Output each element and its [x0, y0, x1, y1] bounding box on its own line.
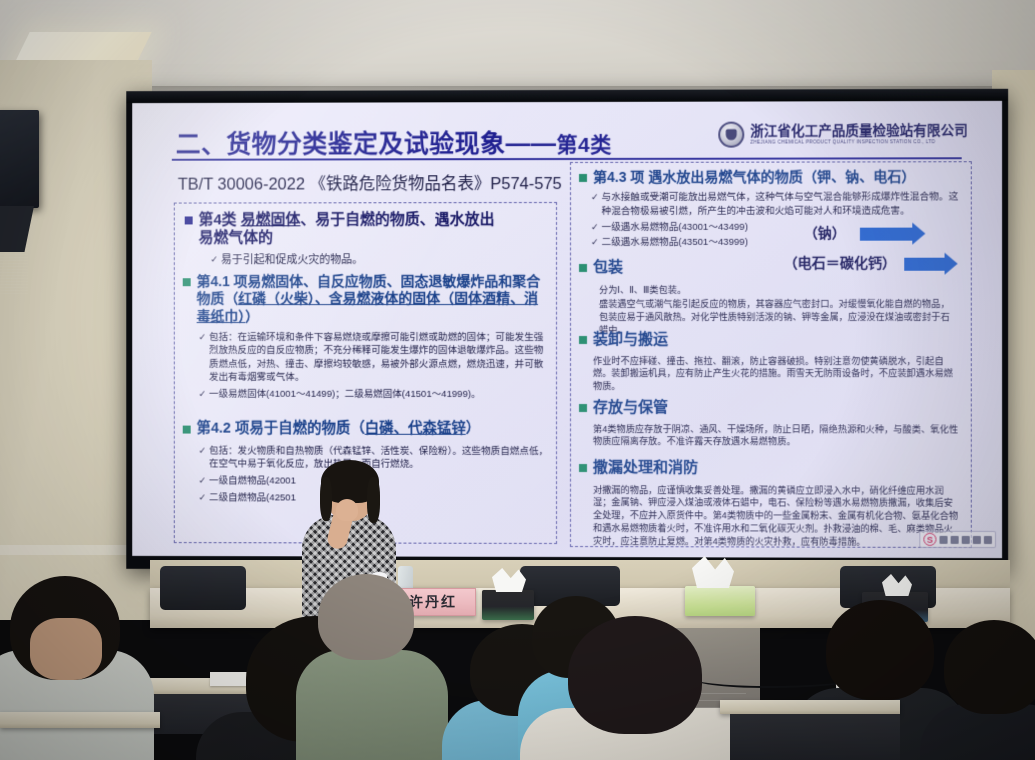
toolbar-icon[interactable] [951, 535, 959, 543]
audience-head [944, 620, 1035, 714]
packaging-heading-row: 包装 [579, 259, 965, 278]
square-bullet-icon [183, 278, 191, 286]
square-bullet-icon [579, 336, 587, 344]
packaging-heading: 包装 [593, 259, 623, 278]
desk [0, 712, 160, 728]
company-logo: 浙江省化工产品质量检验站有限公司 ZHEJIANG CHEMICAL PRODU… [718, 121, 968, 148]
spill-text: 对撒漏的物品，应谨慎收集妥善处理。撒漏的黄磷应立即浸入水中，硝化纤维应用水润湿；… [593, 484, 959, 549]
tissue-box [685, 586, 755, 616]
class4-heading: 第4类 易燃固体、易于自燃的物质、遇水放出 易燃气体的 [199, 211, 495, 248]
desk [720, 700, 900, 714]
item43-detail: 与水接触或受潮可能放出易燃气体，这种气体与空气混合能够形成爆炸性混合物。这种混合… [591, 191, 961, 218]
toolbar-icon[interactable] [973, 535, 981, 543]
square-bullet-icon [579, 264, 587, 272]
chair-back [160, 566, 246, 610]
handling-heading-row: 装卸与搬运 [579, 331, 965, 350]
projection-screen: 二、货物分类鉴定及试验现象——第4类 浙江省化工产品质量检验站有限公司 ZHEJ… [126, 89, 1008, 571]
presenter-hair-side [320, 477, 332, 521]
audience-head [318, 574, 414, 660]
arrow-right-icon [860, 228, 912, 241]
item42-heading-tail: ） [466, 421, 480, 437]
spill-heading: 撒漏处理和消防 [593, 459, 698, 478]
square-bullet-icon [185, 216, 193, 224]
conference-room-photo: 二、货物分类鉴定及试验现象——第4类 浙江省化工产品质量检验站有限公司 ZHEJ… [0, 0, 1035, 760]
item41-heading-row: 第4.1 项易燃固体、自反应物质、固态退敏爆炸品和聚合物质（红磷（火柴）、含易燃… [183, 273, 549, 325]
item43-heading: 第4.3 项 遇水放出易燃气体的物质（钾、钠、电石） [593, 168, 916, 186]
spill-heading-row: 撒漏处理和消防 [579, 459, 965, 478]
audience-head [826, 600, 934, 700]
square-bullet-icon [579, 464, 587, 472]
audience-head [568, 616, 702, 734]
callout-sodium: （钠） [804, 223, 846, 243]
class4-heading-d: 易燃气体的 [199, 230, 273, 247]
wall-speaker [0, 110, 39, 208]
item42-heading: 第4.2 项易于自燃的物质（白磷、代森锰锌） [197, 421, 481, 439]
storage-heading: 存放与保管 [593, 399, 668, 418]
item41-codes: 一级易燃固体(41001～41499)；二级易燃固体(41501～41999)。 [199, 388, 549, 401]
tissue-box [482, 590, 534, 620]
item43-heading-emphasis: 钾、钠、电石 [817, 168, 902, 184]
presenter-hair-side [367, 477, 380, 523]
item42-heading-text: 第4.2 项易于自燃的物质（ [197, 421, 365, 437]
presentation-slide: 二、货物分类鉴定及试验现象——第4类 浙江省化工产品质量检验站有限公司 ZHEJ… [132, 101, 1002, 558]
presenter-hand [336, 499, 358, 521]
item41-heading-tail: ） [245, 308, 259, 324]
title-underline [172, 157, 962, 161]
item42-heading-emphasis: 白磷、代森锰锌 [365, 421, 466, 437]
handling-heading: 装卸与搬运 [593, 331, 668, 350]
storage-text: 第4类物质应存放于阴凉、通风、干燥场所，防止日晒，隔绝热源和火种，与酸类、氧化性… [593, 423, 959, 449]
company-name-en: ZHEJIANG CHEMICAL PRODUCT QUALITY INSPEC… [750, 139, 967, 144]
audience-body [296, 650, 448, 760]
desk-panel [730, 714, 900, 760]
screen-recorder-toolbar[interactable]: S [919, 531, 996, 548]
item43-heading-row: 第4.3 项 遇水放出易燃气体的物质（钾、钠、电石） [579, 168, 965, 186]
slide-title-main: 二、货物分类鉴定及试验现象—— [176, 130, 557, 159]
toolbar-icon[interactable] [962, 535, 970, 543]
audience-face [30, 618, 102, 680]
item43-heading-text: 第4.3 项 遇水放出易燃气体的物质（ [593, 169, 817, 185]
right-content-panel: 第4.3 项 遇水放出易燃气体的物质（钾、钠、电石） 与水接触或受潮可能放出易燃… [570, 161, 972, 548]
packaging-line1: 分为Ⅰ、Ⅱ、Ⅲ类包装。 [599, 283, 965, 296]
company-emblem-icon [718, 122, 744, 148]
toolbar-icon[interactable] [940, 535, 948, 543]
item43-heading-tail: ） [901, 168, 915, 184]
ceiling [0, 0, 1035, 96]
company-name-cn: 浙江省化工产品质量检验站有限公司 [750, 124, 967, 139]
class4-heading-b: 易燃固体 [241, 211, 301, 228]
square-bullet-icon [579, 174, 587, 182]
standard-reference: TB/T 30006-2022 《铁路危险货物品名表》P574-575 [178, 170, 562, 195]
storage-heading-row: 存放与保管 [579, 399, 965, 418]
item42-heading-row: 第4.2 项易于自燃的物质（白磷、代森锰锌） [183, 421, 549, 439]
class4-heading-row: 第4类 易燃固体、易于自燃的物质、遇水放出 易燃气体的 [185, 211, 545, 248]
item41-detail: 包括：在运输环境和条件下容易燃烧或摩擦可能引燃或助燃的固体；可能发生强烈放热反应… [199, 331, 549, 384]
class4-heading-a: 第4类 [199, 211, 241, 228]
class4-heading-c: 、易于自燃的物质、遇水放出 [300, 211, 494, 228]
slide-title-suffix: 第4类 [557, 134, 612, 157]
square-bullet-icon [579, 404, 587, 412]
class4-tick: 易于引起和促成火灾的物品。 [210, 253, 545, 268]
square-bullet-icon [183, 426, 191, 434]
toolbar-icon[interactable] [984, 535, 992, 543]
handling-text: 作业时不应摔碰、撞击、拖拉、翻滚，防止容器破损。特别注意勿使黄磷脱水，引起自燃。… [593, 355, 959, 394]
recorder-logo-icon: S [923, 533, 936, 546]
item41-heading: 第4.1 项易燃固体、自反应物质、固态退敏爆炸品和聚合物质（红磷（火柴）、含易燃… [197, 273, 549, 325]
slide-title: 二、货物分类鉴定及试验现象——第4类 [176, 124, 612, 161]
